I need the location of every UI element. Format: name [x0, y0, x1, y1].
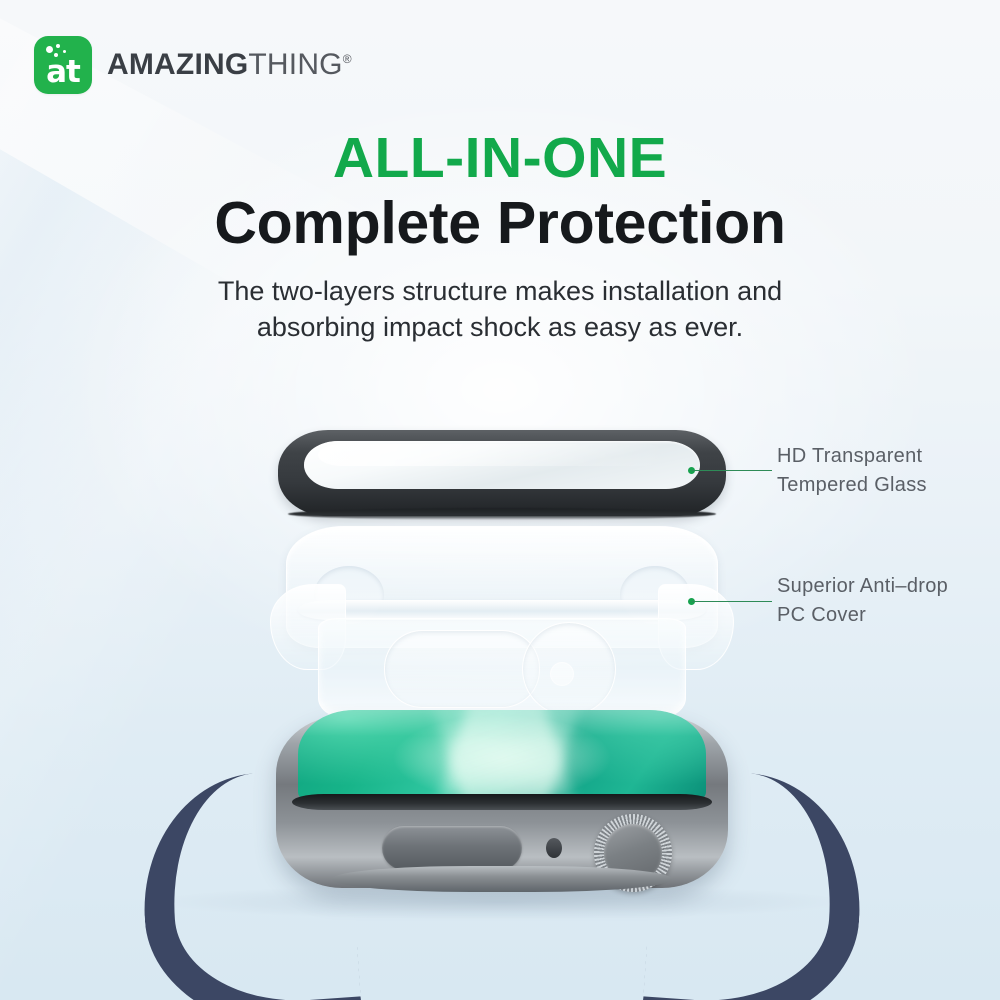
- watch-side-button: [382, 826, 522, 870]
- pc-cover-layer: [268, 526, 736, 722]
- callout-pc-cover-line-2: PC Cover: [777, 601, 948, 630]
- watch-screen-bezel: [292, 794, 712, 810]
- callout-tempered-glass-line-1: HD Transparent: [777, 442, 927, 471]
- callout-tempered-glass-line-2: Tempered Glass: [777, 471, 927, 500]
- pc-cover-crown-cutout: [522, 622, 616, 716]
- watch-screen-glare: [298, 710, 706, 736]
- tempered-glass-layer: [278, 430, 726, 516]
- product-drop-shadow: [150, 884, 850, 920]
- glass-reflection-highlight: [318, 444, 666, 466]
- callout-pc-cover-line-1: Superior Anti–drop: [777, 572, 948, 601]
- watch-microphone: [546, 838, 562, 858]
- glass-bottom-edge: [288, 508, 716, 520]
- pc-cover-rim: [298, 600, 706, 620]
- pc-cover-button-cutout: [384, 630, 540, 708]
- smartwatch-device: [276, 716, 728, 896]
- callout-label-tempered-glass: HD Transparent Tempered Glass: [777, 442, 927, 500]
- callout-leader-line-pc-cover: [692, 601, 772, 602]
- callout-label-pc-cover: Superior Anti–drop PC Cover: [777, 572, 948, 630]
- watch-screen: [298, 710, 706, 802]
- exploded-product-diagram: [0, 0, 1000, 1000]
- product-marketing-banner: at AMAZINGTHING® ALL-IN-ONE Complete Pro…: [0, 0, 1000, 1000]
- callout-leader-line-tempered-glass: [692, 470, 772, 471]
